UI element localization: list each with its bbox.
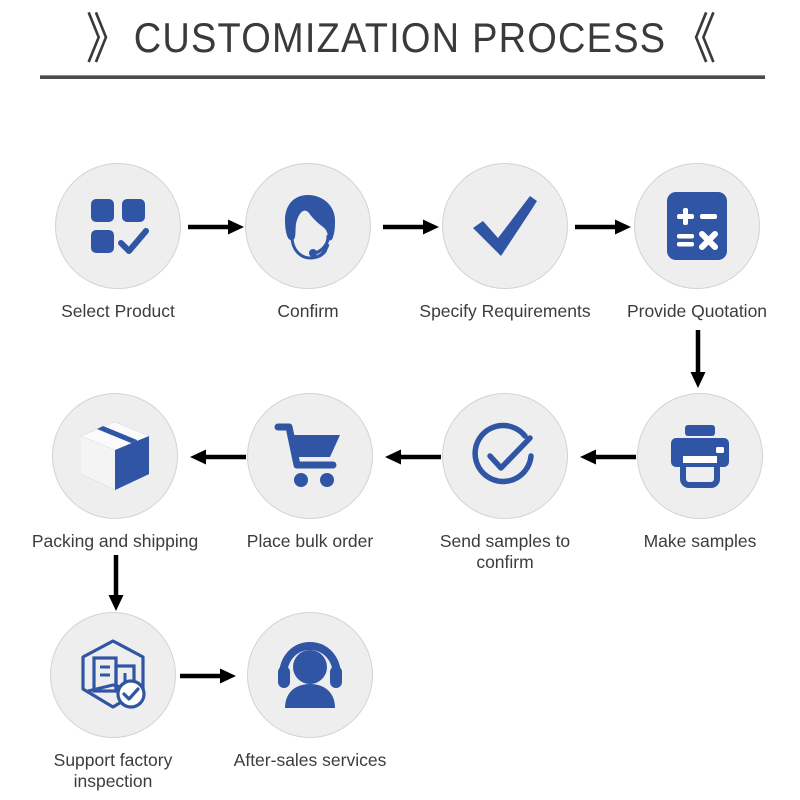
process-step-send-samples[interactable]: Send samples to confirm — [410, 393, 600, 574]
step-label: Confirm — [213, 301, 403, 322]
process-step-select-product[interactable]: Select Product — [23, 163, 213, 322]
step-icon-circle — [247, 612, 373, 738]
circle-check-icon — [467, 418, 543, 494]
chevron-left-double-icon: 《 — [670, 12, 714, 66]
arrow-select-to-confirm — [188, 218, 246, 236]
title-row: 》 CUSTOMIZATION PROCESS 《 — [0, 8, 800, 70]
step-label: Support factory inspection — [18, 750, 208, 793]
printer-icon — [664, 423, 736, 489]
step-label: Packing and shipping — [20, 531, 210, 552]
process-step-provide-quotation[interactable]: Provide Quotation — [602, 163, 792, 322]
arrow-packing-to-inspection — [107, 555, 125, 613]
step-label: Place bulk order — [215, 531, 405, 552]
arrow-send-to-bulk-order — [383, 448, 441, 466]
arrow-bulk-order-to-packing — [188, 448, 246, 466]
arrow-specify-to-quotation — [575, 218, 633, 236]
calculator-icon — [665, 190, 729, 262]
process-step-make-samples[interactable]: Make samples — [605, 393, 795, 552]
title-divider — [40, 75, 765, 79]
step-icon-circle — [245, 163, 371, 289]
arrow-quotation-to-make-samples — [689, 330, 707, 390]
shopping-cart-icon — [274, 421, 346, 491]
process-step-place-bulk-order[interactable]: Place bulk order — [215, 393, 405, 552]
step-label: After-sales services — [215, 750, 405, 771]
step-label: Select Product — [23, 301, 213, 322]
step-icon-circle — [50, 612, 176, 738]
step-icon-circle — [442, 393, 568, 519]
headset-operator-icon — [271, 189, 345, 263]
checkmark-icon — [467, 188, 543, 264]
process-step-confirm[interactable]: Confirm — [213, 163, 403, 322]
arrow-inspection-to-after-sales — [180, 667, 238, 685]
page-title: CUSTOMIZATION PROCESS — [134, 15, 667, 62]
step-icon-circle — [442, 163, 568, 289]
step-label: Make samples — [605, 531, 795, 552]
process-step-packing-shipping[interactable]: Packing and shipping — [20, 393, 210, 552]
page-header: 》 CUSTOMIZATION PROCESS 《 — [0, 0, 800, 92]
process-step-after-sales[interactable]: After-sales services — [215, 612, 405, 771]
step-icon-circle — [634, 163, 760, 289]
step-label: Specify Requirements — [410, 301, 600, 322]
process-step-specify-requirements[interactable]: Specify Requirements — [410, 163, 600, 322]
step-icon-circle — [637, 393, 763, 519]
step-icon-circle — [55, 163, 181, 289]
arrow-make-samples-to-send — [578, 448, 636, 466]
step-label: Send samples to confirm — [410, 531, 600, 574]
arrow-confirm-to-specify — [383, 218, 441, 236]
step-icon-circle — [52, 393, 178, 519]
step-icon-circle — [247, 393, 373, 519]
grid-check-icon — [85, 193, 151, 259]
chevron-right-double-icon: 》 — [86, 12, 130, 66]
process-step-support-inspection[interactable]: Support factory inspection — [18, 612, 208, 793]
factory-inspection-shield-icon — [74, 636, 152, 714]
step-label: Provide Quotation — [602, 301, 792, 322]
support-agent-icon — [273, 640, 347, 710]
package-box-icon — [77, 419, 153, 493]
